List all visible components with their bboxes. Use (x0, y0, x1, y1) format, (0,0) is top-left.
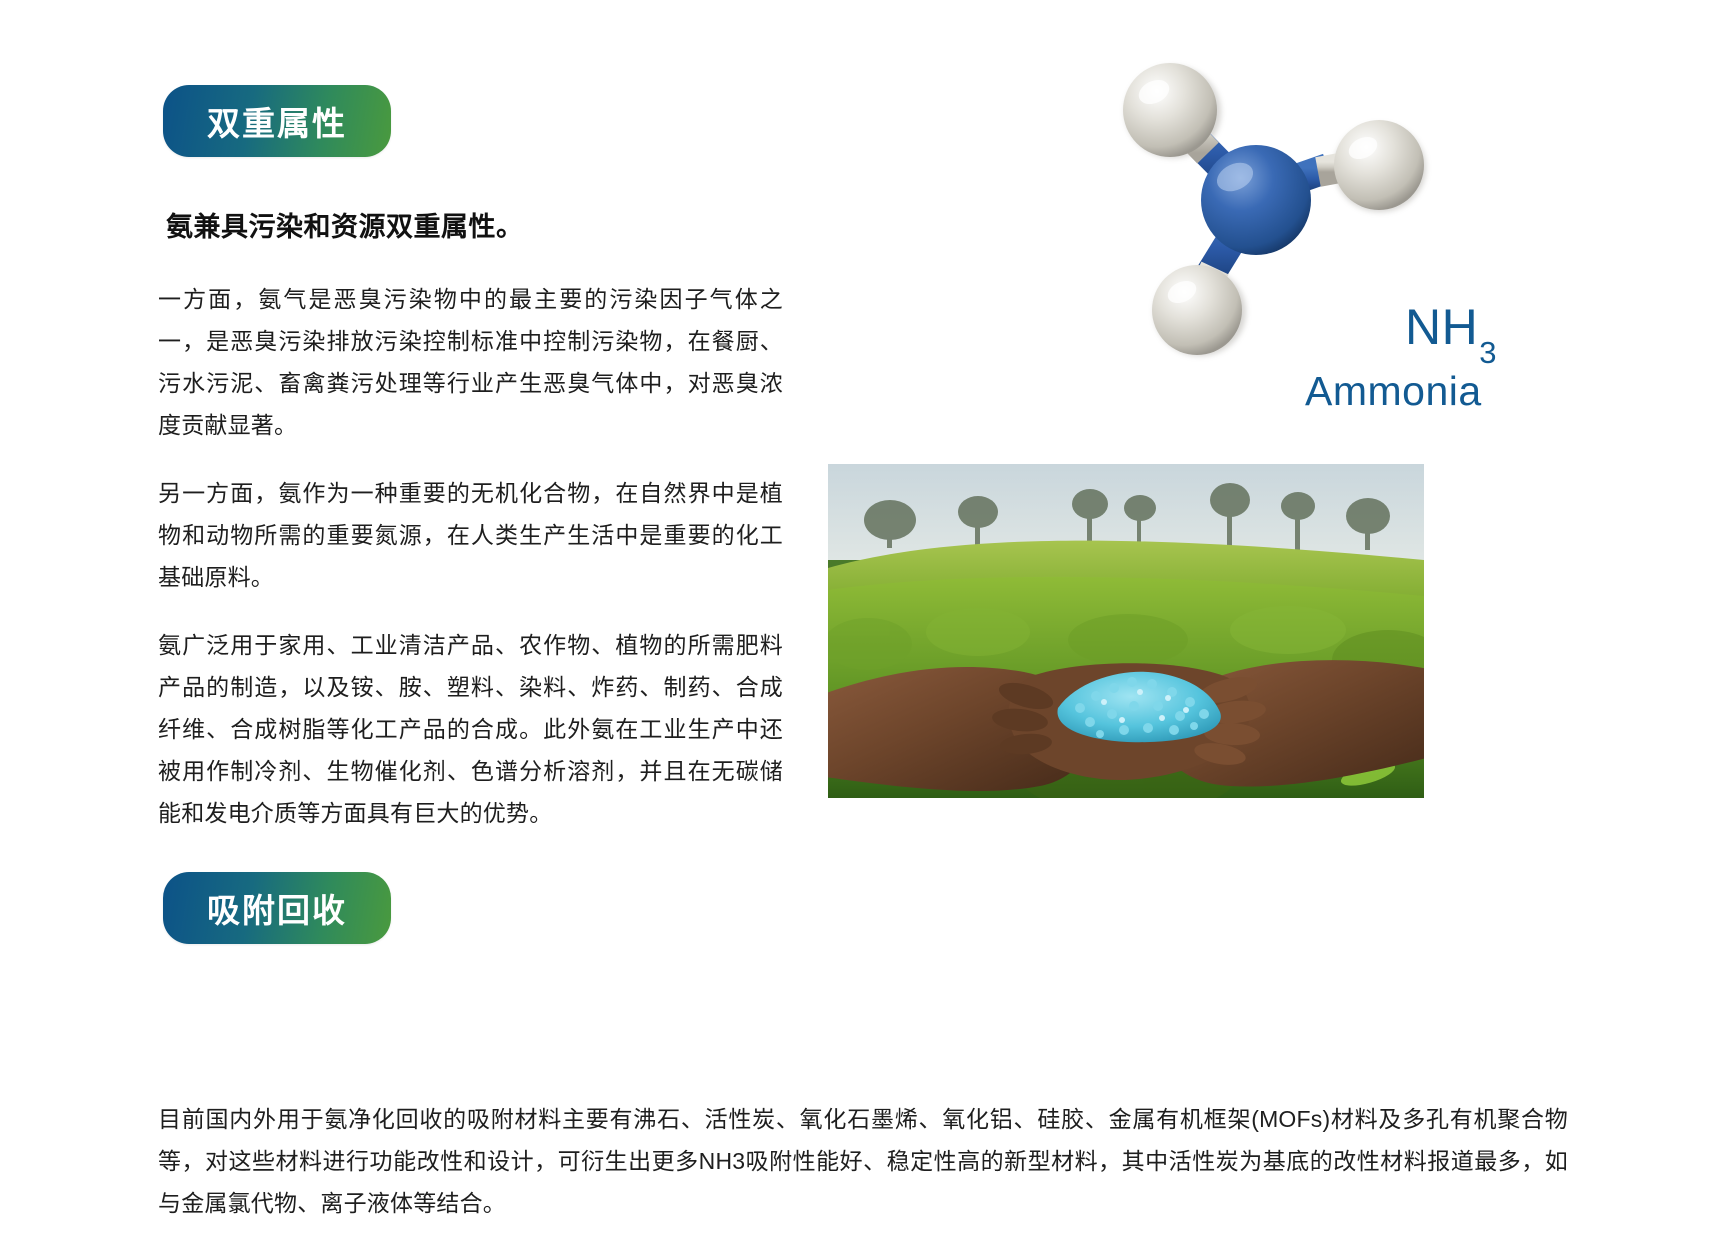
section-badge-adsorption-recovery: 吸附回收 (163, 872, 391, 944)
formula-main: NH (1405, 299, 1478, 355)
paragraph-2: 另一方面，氨作为一种重要的无机化合物，在自然界中是植物和动物所需的重要氮源，在人… (158, 472, 783, 598)
formula-subscript: 3 (1479, 335, 1497, 370)
photo-illustration (828, 464, 1424, 798)
paragraph-1: 一方面，氨气是恶臭污染物中的最主要的污染因子气体之一，是恶臭污染排放污染控制标准… (158, 278, 783, 446)
molecule-name-label: Ammonia (1305, 368, 1482, 415)
left-text-column: 氨兼具污染和资源双重属性。 一方面，氨气是恶臭污染物中的最主要的污染因子气体之一… (158, 205, 783, 834)
molecule-formula: NH3 (1405, 302, 1496, 360)
fertilizer-photo (828, 464, 1424, 798)
section-badge-dual-attributes: 双重属性 (163, 85, 391, 157)
paragraph-3: 氨广泛用于家用、工业清洁产品、农作物、植物的所需肥料产品的制造，以及铵、胺、塑料… (158, 624, 783, 834)
document-page: 双重属性 氨兼具污染和资源双重属性。 一方面，氨气是恶臭污染物中的最主要的污染因… (0, 0, 1721, 1240)
section-lede: 氨兼具污染和资源双重属性。 (166, 205, 783, 244)
ammonia-molecule-figure: NH3 Ammonia (1060, 40, 1620, 450)
paragraph-adsorption-recovery: 目前国内外用于氨净化回收的吸附材料主要有沸石、活性炭、氧化石墨烯、氧化铝、硅胶、… (158, 1098, 1568, 1224)
